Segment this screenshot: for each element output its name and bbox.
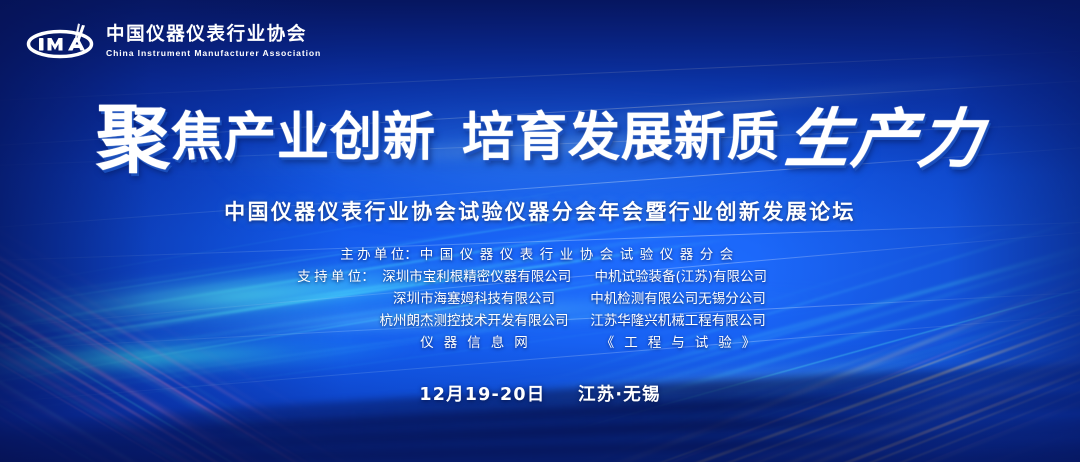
association-name-cn: 中国仪器仪表行业协会	[106, 26, 321, 45]
support-item: 仪器信息网	[372, 331, 576, 351]
event-subtitle: 中国仪器仪表行业协会试验仪器分会年会暨行业创新发展论坛	[0, 196, 1080, 226]
headline-segment-left: 焦产业创新	[171, 112, 436, 164]
support-item: 中机试验装备(江苏)有限公司	[579, 265, 783, 285]
host-colon: ：	[404, 243, 418, 263]
event-date: 12月19-20日	[419, 385, 545, 405]
headline-segment-right: 培育发展新质	[462, 112, 780, 164]
support-columns-1: 深圳市宝利根精密仪器有限公司 中机试验装备(江苏)有限公司	[375, 265, 783, 285]
support-columns-2: 深圳市海塞姆科技有限公司 中机检测有限公司无锡分公司	[372, 287, 780, 307]
banner-content: 中国仪器仪表行业协会 China Instrument Manufacturer…	[0, 0, 1080, 462]
event-date-location: 12月19-20日 江苏·无锡	[0, 381, 1080, 406]
association-logo-text: 中国仪器仪表行业协会 China Instrument Manufacturer…	[106, 26, 321, 57]
ima-logo-icon	[24, 22, 96, 62]
support-item: 杭州朗杰测控技术开发有限公司	[372, 309, 576, 329]
support-line-4: 仪器信息网 《工程与试验》	[300, 331, 780, 351]
conference-banner: 中国仪器仪表行业协会 China Instrument Manufacturer…	[0, 0, 1080, 462]
support-columns-4: 仪器信息网 《工程与试验》	[372, 331, 780, 351]
support-line-2: 深圳市海塞姆科技有限公司 中机检测有限公司无锡分公司	[300, 287, 780, 307]
support-item: 《工程与试验》	[576, 331, 780, 351]
support-item: 中机检测有限公司无锡分公司	[576, 287, 780, 307]
headline-emphasis: 生产力	[783, 108, 988, 172]
support-columns-3: 杭州朗杰测控技术开发有限公司 江苏华隆兴机械工程有限公司	[372, 309, 780, 329]
support-colon: ：	[361, 265, 375, 285]
association-logo: 中国仪器仪表行业协会 China Instrument Manufacturer…	[24, 22, 321, 62]
support-line-1: 支持单位 ： 深圳市宝利根精密仪器有限公司 中机试验装备(江苏)有限公司	[297, 265, 783, 285]
support-item: 江苏华隆兴机械工程有限公司	[576, 309, 780, 329]
organizer-block: 主办单位 ： 中国仪器仪表行业协会试验仪器分会 支持单位 ： 深圳市宝利根精密仪…	[0, 243, 1080, 351]
headline-lead-char: 聚	[96, 103, 169, 177]
association-name-en: China Instrument Manufacturer Associatio…	[106, 49, 321, 58]
headline: 聚 焦产业创新 培育发展新质 生产力	[0, 96, 1080, 180]
support-label: 支持单位	[297, 265, 361, 285]
host-line: 主办单位 ： 中国仪器仪表行业协会试验仪器分会	[340, 243, 740, 263]
host-label: 主办单位	[340, 243, 404, 263]
host-value: 中国仪器仪表行业协会试验仪器分会	[418, 243, 740, 263]
support-item: 深圳市宝利根精密仪器有限公司	[375, 265, 579, 285]
event-location: 江苏·无锡	[578, 385, 661, 405]
support-item: 深圳市海塞姆科技有限公司	[372, 287, 576, 307]
support-line-3: 杭州朗杰测控技术开发有限公司 江苏华隆兴机械工程有限公司	[300, 309, 780, 329]
